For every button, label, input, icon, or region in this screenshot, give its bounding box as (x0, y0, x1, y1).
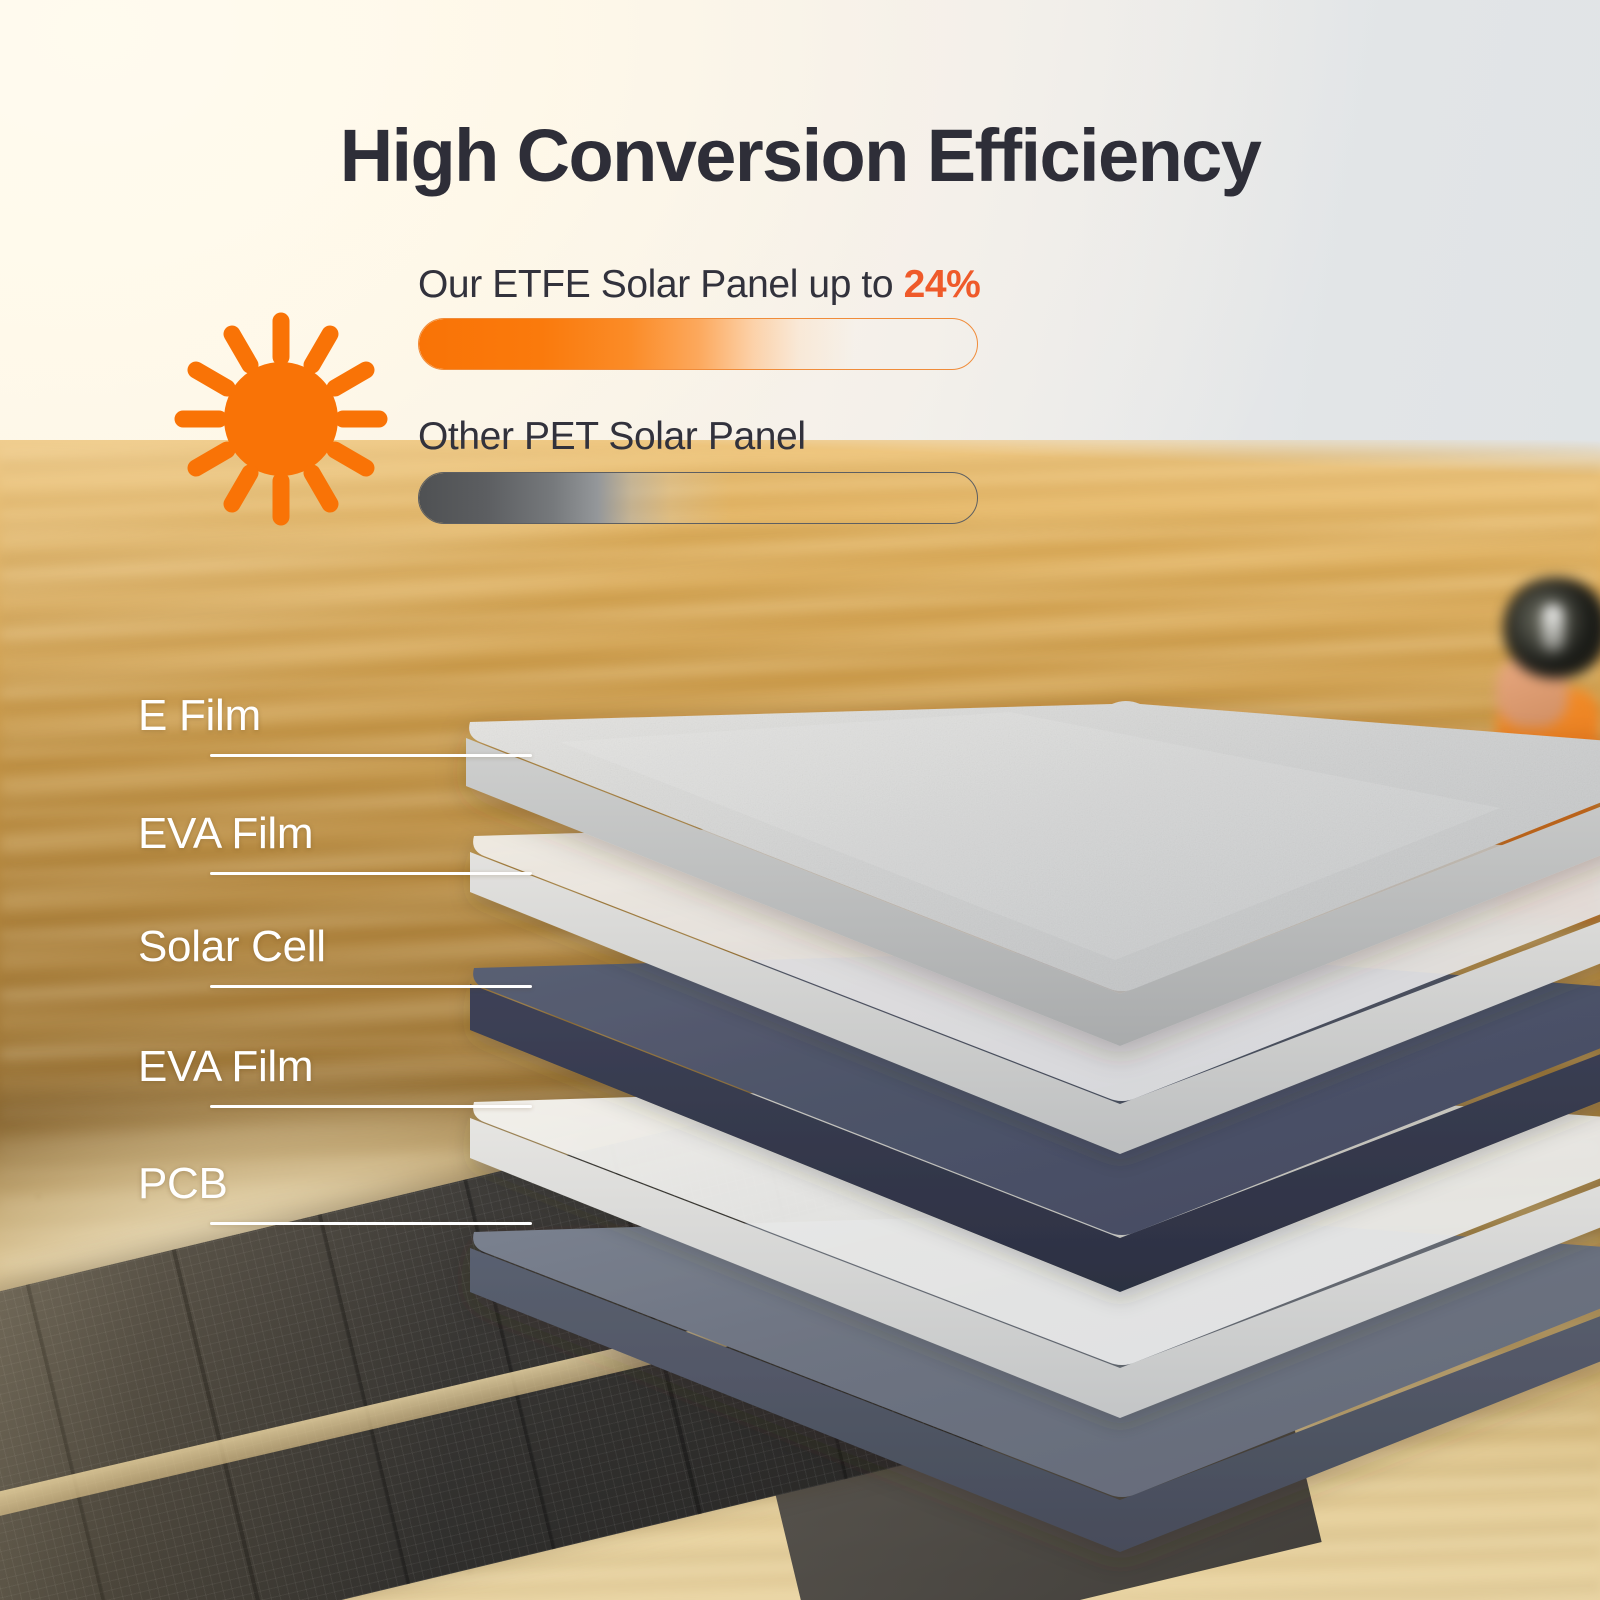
solar-panel-layer-stack (0, 0, 1600, 1600)
callout-rule (210, 872, 532, 875)
callout-eva-film-upper: EVA Film (138, 812, 532, 875)
etfe-bar-label: Our ETFE Solar Panel up to 24% (418, 262, 978, 308)
pet-bar-label: Other PET Solar Panel (418, 414, 978, 460)
callout-rule (210, 1222, 532, 1225)
pet-progress-bar[interactable] (418, 472, 978, 524)
callout-label: PCB (138, 1162, 532, 1206)
callout-rule (210, 754, 532, 757)
page-title: High Conversion Efficiency (0, 118, 1600, 193)
callout-label: EVA Film (138, 1045, 532, 1089)
etfe-label-text: Our ETFE Solar Panel up to (418, 263, 904, 306)
callout-solar-cell: Solar Cell (138, 925, 532, 988)
callout-rule (210, 1105, 532, 1108)
callout-eva-film-lower: EVA Film (138, 1045, 532, 1108)
infographic-canvas: High Conversion Efficiency Our E (0, 0, 1600, 1600)
pet-progress-fill (419, 473, 977, 523)
callout-label: Solar Cell (138, 925, 532, 969)
etfe-progress-bar[interactable] (418, 318, 978, 370)
efficiency-comparison: Our ETFE Solar Panel up to 24% Other PET… (418, 262, 978, 524)
etfe-value-badge: 24% (904, 263, 981, 306)
callout-e-film: E Film (138, 694, 532, 757)
callout-label: E Film (138, 694, 532, 738)
callout-pcb: PCB (138, 1162, 532, 1225)
etfe-progress-fill (419, 319, 977, 369)
callout-label: EVA Film (138, 812, 532, 856)
sun-icon (165, 303, 397, 535)
callout-rule (210, 985, 532, 988)
bars-spacer (418, 370, 978, 414)
